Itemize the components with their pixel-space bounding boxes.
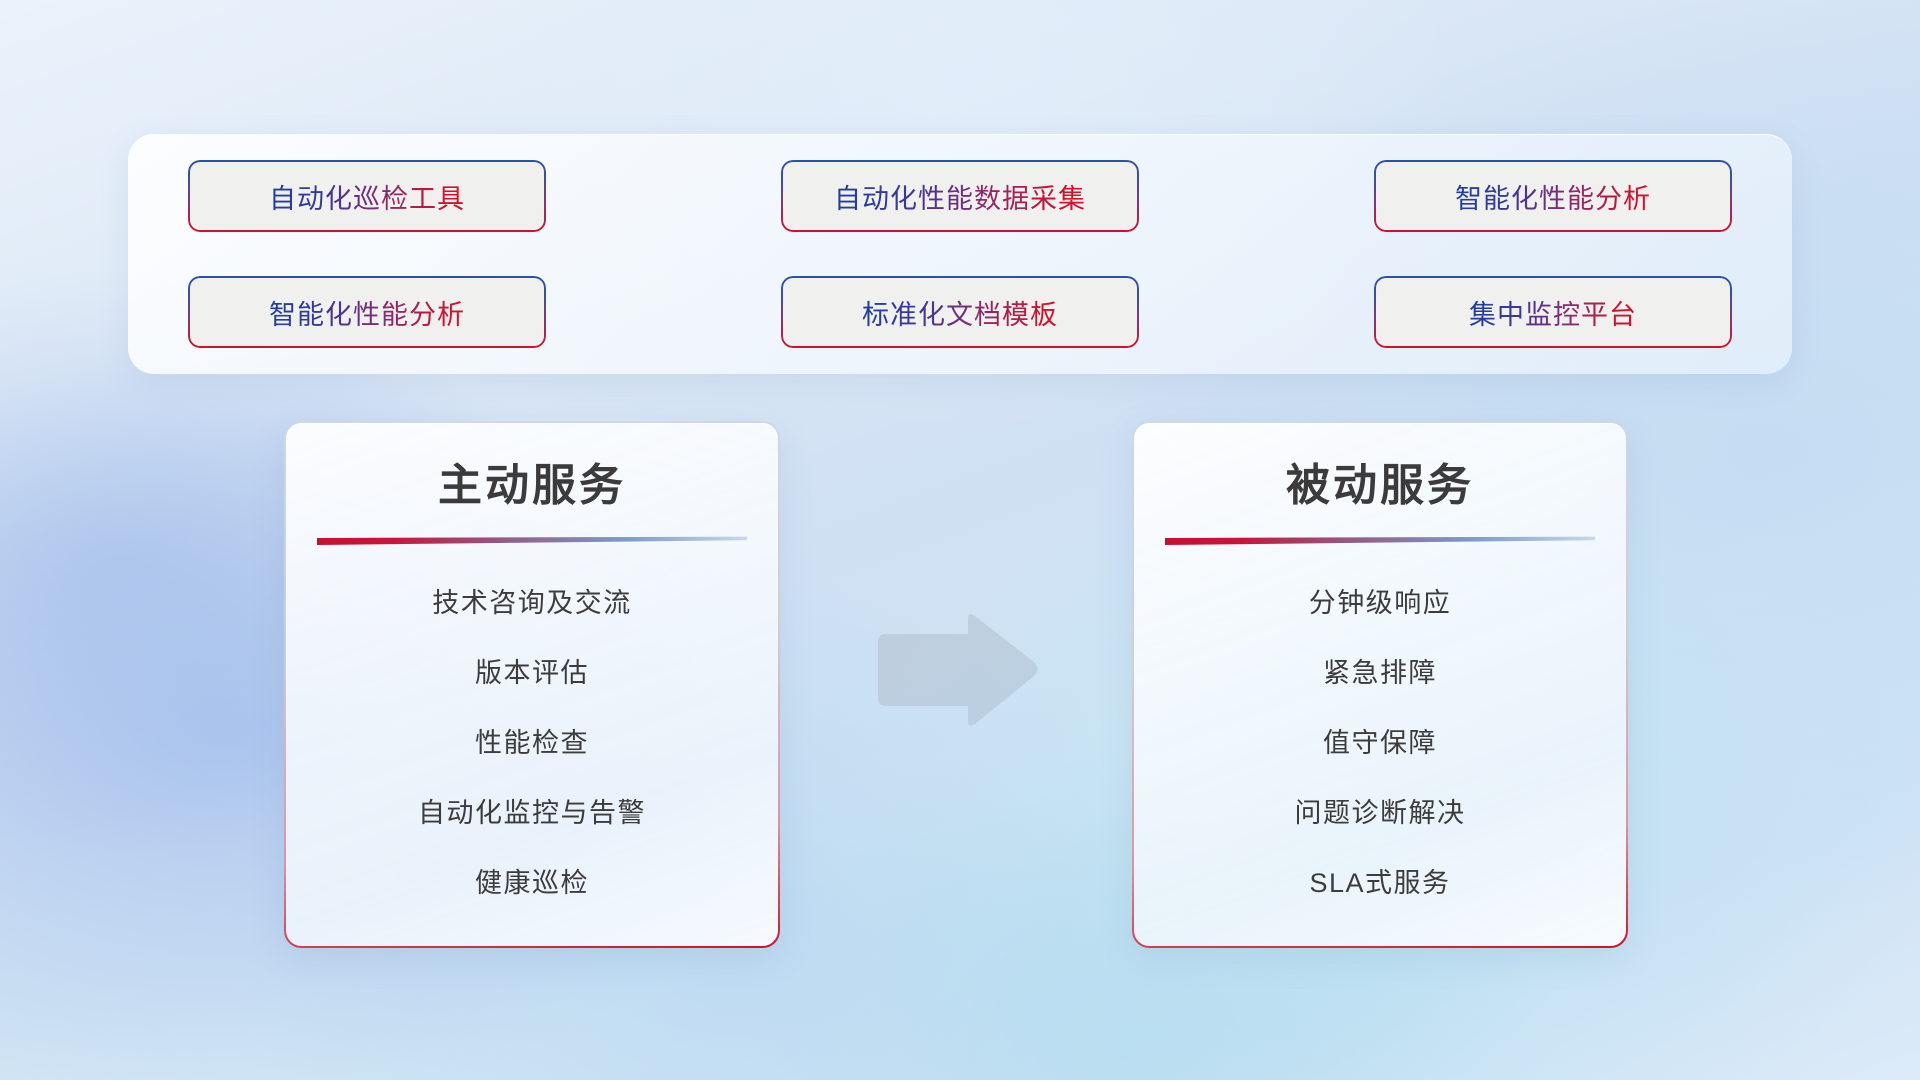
service-list-item: SLA式服务 [1309,861,1450,900]
service-card-active[interactable]: 主动服务 技术咨询及交流 版本评估 性能检查 自动化监控与告警 [285,422,779,947]
service-list-item: 紧急排障 [1323,651,1437,690]
capability-tags-row-1: 自动化巡检工具 自动化性能数据采集 智能化性能分析 [188,160,1732,232]
capability-tag[interactable]: 智能化性能分析 [1374,160,1732,232]
capability-tag[interactable]: 标准化文档模板 [781,276,1139,348]
capability-tags-row-2: 智能化性能分析 标准化文档模板 集中监控平台 [188,276,1732,348]
service-card-list: 分钟级响应 紧急排障 值守保障 问题诊断解决 SLA式服务 [1160,581,1600,900]
capability-tags-panel: 自动化巡检工具 自动化性能数据采集 智能化性能分析 智能化性能分析 标准化文档模… [128,134,1792,374]
service-list-item: 版本评估 [475,651,589,690]
capability-tag-label: 自动化性能数据采集 [834,177,1086,216]
service-card-title: 被动服务 [1160,461,1600,512]
slide-canvas: 自动化巡检工具 自动化性能数据采集 智能化性能分析 智能化性能分析 标准化文档模… [0,0,1920,1080]
service-list-item: 分钟级响应 [1309,581,1452,620]
capability-tag-label: 自动化巡检工具 [269,177,465,216]
card-divider [317,536,747,545]
capability-tag[interactable]: 集中监控平台 [1374,276,1732,348]
capability-tag-label: 集中监控平台 [1469,293,1637,332]
capability-tag[interactable]: 自动化性能数据采集 [781,160,1139,232]
service-list-item: 自动化监控与告警 [418,791,646,830]
service-card-title: 主动服务 [312,461,752,512]
capability-tag-label: 标准化文档模板 [862,293,1058,332]
service-list-item: 值守保障 [1323,721,1437,760]
capability-tag[interactable]: 自动化巡检工具 [188,160,546,232]
service-list-item: 技术咨询及交流 [432,581,632,620]
capability-tag-label: 智能化性能分析 [1455,177,1651,216]
capability-tag-label: 智能化性能分析 [269,293,465,332]
service-list-item: 健康巡检 [475,861,589,900]
service-list-item: 性能检查 [475,721,589,760]
service-card-list: 技术咨询及交流 版本评估 性能检查 自动化监控与告警 健康巡检 [312,581,752,900]
arrow-right-icon [872,610,1042,730]
service-list-item: 问题诊断解决 [1295,791,1466,830]
service-card-passive[interactable]: 被动服务 分钟级响应 紧急排障 值守保障 问题诊断解决 [1133,422,1627,947]
card-divider [1165,536,1595,545]
capability-tag[interactable]: 智能化性能分析 [188,276,546,348]
